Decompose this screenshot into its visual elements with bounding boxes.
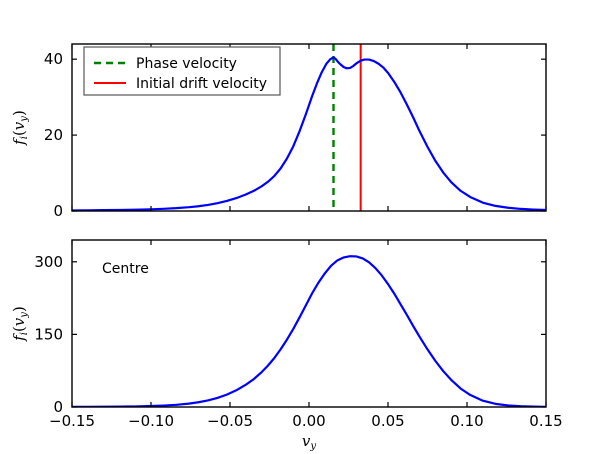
ytick-label-bottom-2: 300 — [34, 253, 63, 271]
plot-svg: 02040fi(vy)Edge−0.15−0.10−0.050.000.050.… — [0, 0, 606, 454]
legend-label-0: Phase velocity — [136, 56, 237, 72]
xtick-label-2: −0.05 — [207, 412, 253, 430]
xtick-label-1: −0.10 — [128, 412, 174, 430]
xtick-label-3: 0.00 — [292, 412, 325, 430]
curve-centre-distribution — [72, 256, 546, 407]
ytick-label-bottom-0: 0 — [53, 398, 63, 416]
xtick-label-5: 0.10 — [450, 412, 483, 430]
ytick-label-top-0: 0 — [53, 202, 63, 220]
yaxis-label-top: fi(vy) — [10, 110, 30, 146]
annotation-bottom: Centre — [102, 261, 149, 277]
ytick-label-top-2: 40 — [44, 50, 63, 68]
legend-label-1: Initial drift velocity — [136, 76, 267, 92]
figure-canvas: 02040fi(vy)Edge−0.15−0.10−0.050.000.050.… — [0, 0, 606, 454]
xtick-label-4: 0.05 — [371, 412, 404, 430]
xtick-label-6: 0.15 — [529, 412, 562, 430]
legend: Phase velocityInitial drift velocity — [84, 47, 280, 95]
ytick-label-top-1: 20 — [44, 126, 63, 144]
yaxis-label-bottom: fi(vy) — [10, 306, 30, 342]
ytick-label-bottom-1: 150 — [34, 325, 63, 343]
xaxis-label: vy — [302, 432, 316, 452]
panel-bottom: −0.15−0.10−0.050.000.050.100.150150300fi… — [10, 240, 563, 430]
